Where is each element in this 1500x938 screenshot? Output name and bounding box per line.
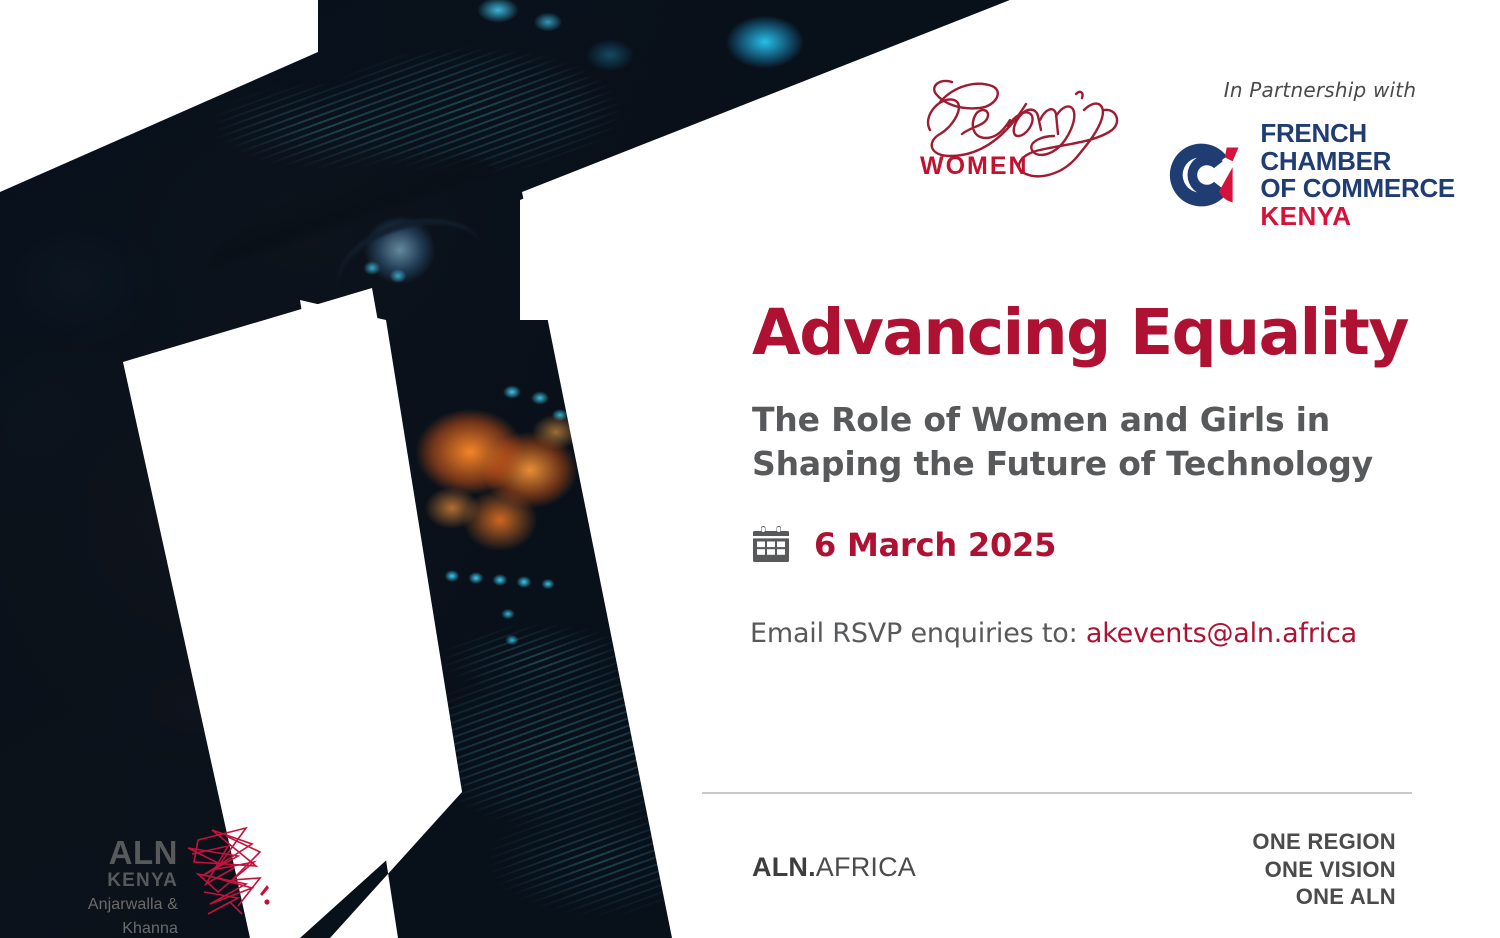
tagline-line-2: ONE VISION <box>1252 856 1396 884</box>
partnership-block: In Partnership with <box>1170 78 1470 102</box>
footer-divider <box>702 792 1412 794</box>
aln-kenya-wordmark: ALN KENYA Anjarwalla & Khanna <box>36 836 178 938</box>
aln-africa-brand-bold: ALN. <box>752 852 816 882</box>
page-subtitle: The Role of Women and Girls in Shaping t… <box>752 398 1452 485</box>
aln-kenya-main-label: ALN <box>36 836 178 869</box>
leading-women-block-word: WOMEN <box>920 152 1029 181</box>
event-flyer: ALN KENYA Anjarwalla & Khanna <box>0 0 1500 938</box>
tagline-line-3: ONE ALN <box>1252 883 1396 911</box>
french-chamber-cc-icon <box>1162 137 1246 213</box>
aln-africa-brand: ALN.AFRICA <box>752 852 916 883</box>
aln-kenya-logo: ALN KENYA Anjarwalla & Khanna <box>36 818 284 924</box>
aln-network-mark-icon <box>168 818 278 924</box>
rsvp-email[interactable]: akevents@aln.africa <box>1086 618 1357 649</box>
french-chamber-line2: OF COMMERCE <box>1260 175 1500 203</box>
event-date-row: 6 March 2025 <box>750 524 1056 566</box>
french-chamber-line1: FRENCH CHAMBER <box>1260 120 1500 175</box>
rsvp-prefix: Email RSVP enquiries to: <box>750 618 1077 649</box>
page-title: Advancing Equality <box>752 300 1452 366</box>
leading-women-logo: WOMEN <box>900 64 1130 194</box>
tagline-line-1: ONE REGION <box>1252 828 1396 856</box>
french-chamber-line3: KENYA <box>1260 203 1500 231</box>
aln-kenya-country-label: KENYA <box>36 869 178 893</box>
aln-tagline: ONE REGION ONE VISION ONE ALN <box>1252 828 1396 911</box>
partnership-label: In Partnership with <box>1224 78 1416 102</box>
event-date: 6 March 2025 <box>814 526 1056 564</box>
french-chamber-logo: FRENCH CHAMBER OF COMMERCE KENYA <box>1162 120 1500 230</box>
content-panel: WOMEN In Partnership with FRENCH CHAMBER… <box>700 0 1500 938</box>
aln-kenya-firm-label: Anjarwalla & Khanna <box>36 893 178 938</box>
french-chamber-wordmark: FRENCH CHAMBER OF COMMERCE KENYA <box>1260 120 1500 230</box>
subtitle-line-1: The Role of Women and Girls in <box>752 398 1452 442</box>
aln-africa-brand-light: AFRICA <box>816 852 916 882</box>
rsvp-line: Email RSVP enquiries to: akevents@aln.af… <box>750 618 1357 649</box>
subtitle-line-2: Shaping the Future of Technology <box>752 442 1452 486</box>
calendar-icon <box>750 524 792 566</box>
